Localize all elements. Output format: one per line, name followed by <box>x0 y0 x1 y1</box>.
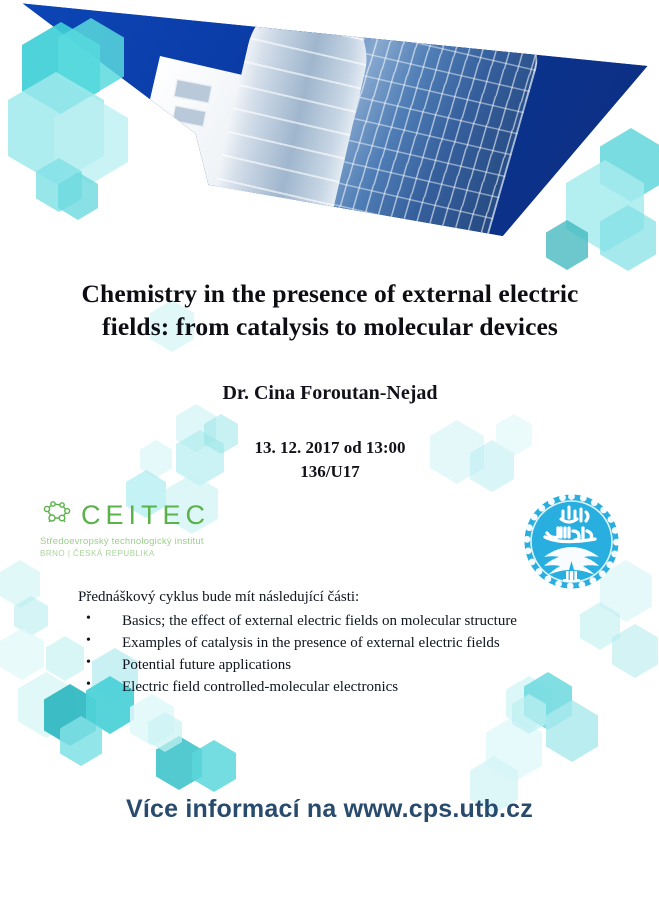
ceitec-logo: CEITEC Středoevropský technologický inst… <box>40 500 280 558</box>
molecule-ring-icon <box>40 500 74 531</box>
title-line-1: Chemistry in the presence of external el… <box>82 279 579 308</box>
page-title: Chemistry in the presence of external el… <box>50 278 610 343</box>
speaker-name: Dr. Cina Foroutan-Nejad <box>60 382 600 405</box>
event-datetime-block: 13. 12. 2017 od 13:00 136/U17 <box>60 436 600 484</box>
topics-list: Basics; the effect of external electric … <box>78 610 598 698</box>
wall-window <box>174 79 213 104</box>
ceitec-subtitle-secondary: BRNO | ČESKÁ REPUBLIKA <box>40 549 280 558</box>
list-item: Basics; the effect of external electric … <box>78 610 598 632</box>
list-item: Electric field controlled-molecular elec… <box>78 676 598 698</box>
list-intro: Přednáškový cyklus bude mít následující … <box>78 589 359 606</box>
decor-hexagon <box>0 628 44 680</box>
more-info-link[interactable]: Více informací na www.cps.utb.cz <box>0 795 659 824</box>
university-of-tehran-seal-icon <box>517 487 626 596</box>
title-line-2: fields: from catalysis to molecular devi… <box>102 312 558 341</box>
wall-window <box>172 105 206 127</box>
brick-window <box>93 217 132 246</box>
brick-window <box>100 182 134 210</box>
event-datetime: 13. 12. 2017 od 13:00 <box>254 438 405 457</box>
wall-window <box>143 197 177 234</box>
wall-window <box>149 154 183 191</box>
ceitec-wordmark: CEITEC <box>81 500 210 531</box>
list-item: Examples of catalysis in the presence of… <box>78 632 598 654</box>
ceitec-subtitle: Středoevropský technologický institut <box>40 536 280 547</box>
event-room: 136/U17 <box>300 462 360 481</box>
list-item: Potential future applications <box>78 654 598 676</box>
poster-root: Chemistry in the presence of external el… <box>0 0 659 900</box>
